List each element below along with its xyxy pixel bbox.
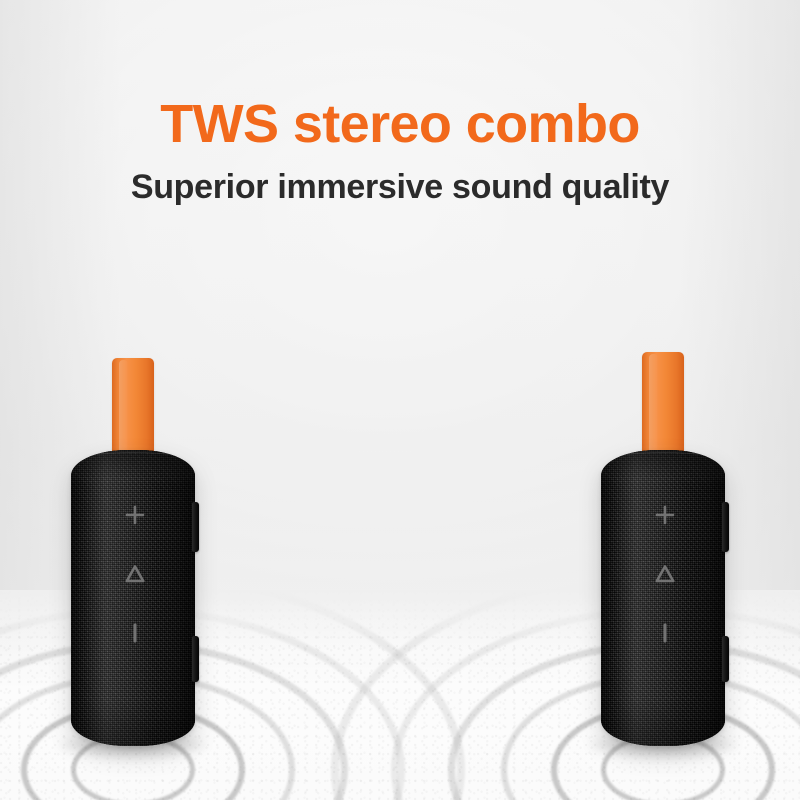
speaker-left-controls	[71, 502, 195, 646]
speaker-top-cap	[71, 450, 195, 480]
headline-block: TWS stereo combo Superior immersive soun…	[0, 96, 800, 206]
page-title: TWS stereo combo	[0, 96, 800, 153]
side-button-lower[interactable]	[722, 636, 729, 682]
side-button-upper[interactable]	[722, 502, 729, 552]
speaker-left-body	[71, 450, 195, 746]
side-button-lower[interactable]	[192, 636, 199, 682]
page-subtitle: Superior immersive sound quality	[0, 169, 800, 206]
speaker-right-controls	[601, 502, 725, 646]
speaker-top-cap	[601, 450, 725, 480]
speaker-right-body	[601, 450, 725, 746]
play-pause-button[interactable]	[652, 561, 678, 587]
top-cap-rim	[75, 452, 191, 468]
volume-down-button[interactable]	[122, 620, 148, 646]
speaker-right[interactable]	[601, 450, 725, 746]
play-pause-button[interactable]	[122, 561, 148, 587]
speaker-left[interactable]	[71, 450, 195, 746]
volume-down-button[interactable]	[652, 620, 678, 646]
volume-up-button[interactable]	[122, 502, 148, 528]
side-button-upper[interactable]	[192, 502, 199, 552]
product-marketing-banner: TWS stereo combo Superior immersive soun…	[0, 0, 800, 800]
top-cap-rim	[605, 452, 721, 468]
volume-up-button[interactable]	[652, 502, 678, 528]
